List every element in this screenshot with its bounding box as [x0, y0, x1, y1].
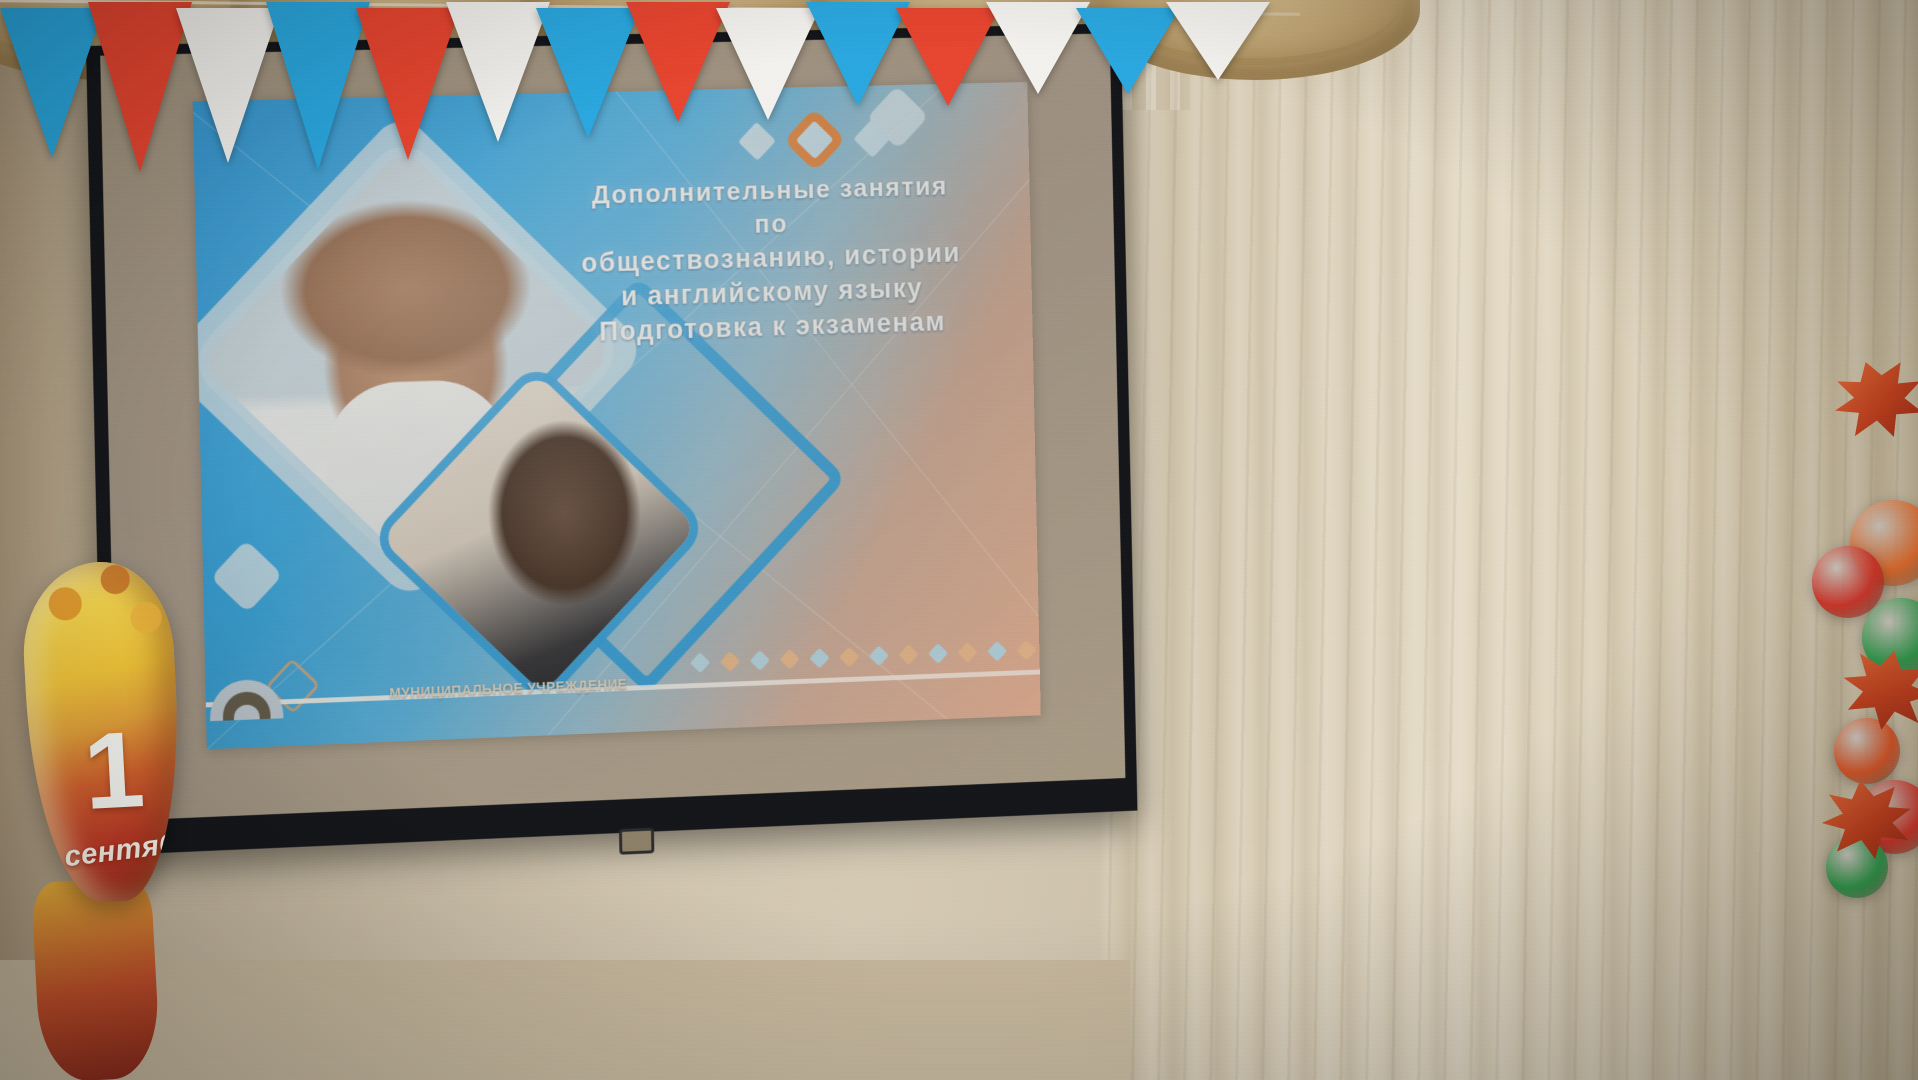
pennant-flag — [176, 8, 280, 163]
slide-dot — [780, 649, 800, 670]
screen-bottom-hook — [619, 828, 654, 855]
pennant-flag — [1076, 8, 1180, 94]
slide-dot — [839, 647, 859, 668]
slide-dot — [1017, 640, 1037, 661]
slide-dot — [690, 652, 710, 673]
pennant-garland — [0, 0, 1300, 190]
balloon-leaf-pattern — [19, 558, 181, 678]
decor-autumn-leaf — [1822, 348, 1918, 453]
wall-lower-strip — [0, 960, 1130, 1080]
slide-dot — [809, 648, 829, 669]
autumn-decoration-cluster — [1768, 350, 1918, 910]
auditorium-room: Дополнительные занятия по обществознанию… — [0, 0, 1918, 1080]
pennant-flag — [266, 2, 370, 170]
decor-balloon-ball — [1834, 718, 1900, 784]
slide-title-block: Дополнительные занятия по обществознанию… — [533, 168, 1008, 351]
balloon-lower-section — [31, 877, 161, 1080]
slide-dot — [750, 650, 770, 671]
pennant-flag — [806, 2, 910, 106]
pennant-flag — [1166, 2, 1270, 80]
slide-dot — [898, 644, 918, 665]
slide-dot-row — [693, 639, 1041, 670]
slide-dot — [958, 642, 978, 663]
pennant-flag — [356, 8, 460, 160]
arch-logo-icon — [209, 677, 283, 722]
accent-diamond — [210, 540, 283, 613]
pennant-flag — [986, 2, 1090, 94]
decor-balloon-ball — [1812, 546, 1884, 618]
pennant-flag — [626, 2, 730, 122]
slide-dot — [720, 651, 740, 672]
footer-organization-label: МУНИЦИПАЛЬНОЕ УЧРЕЖДЕНИЕ — [389, 676, 627, 701]
pennant-flag — [536, 8, 640, 138]
pennant-flag — [446, 2, 550, 142]
pennant-flag — [716, 8, 820, 120]
balloon-month-word: сентября — [63, 823, 187, 874]
slide-dot — [869, 645, 889, 666]
pennant-flag — [896, 8, 1000, 106]
slide-dot — [928, 643, 948, 664]
balloon-number: 1 — [82, 720, 147, 820]
slide-dot — [987, 641, 1007, 662]
